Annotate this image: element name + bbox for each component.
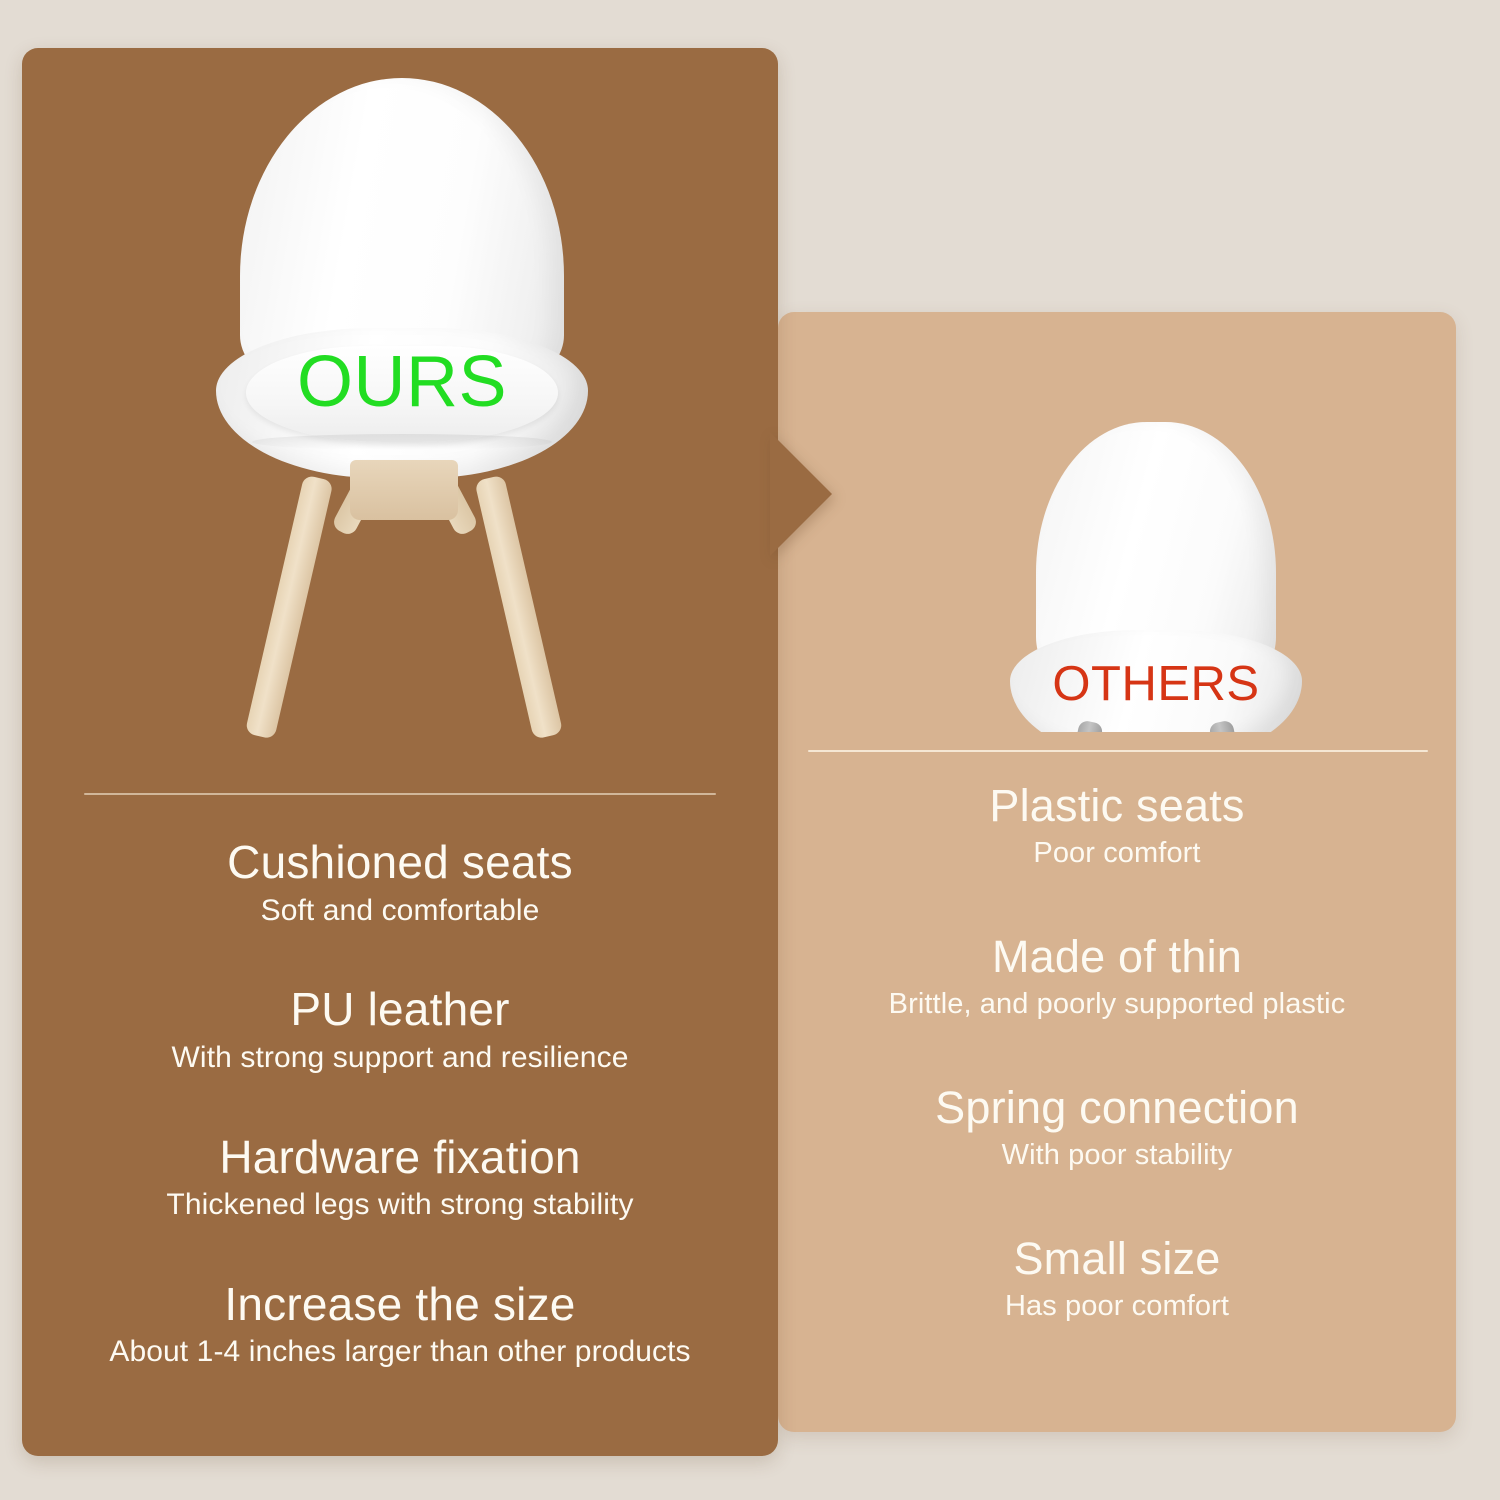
ours-feature-list: Cushioned seats Soft and comfortable PU … [22,838,778,1369]
feature-title: Plastic seats [796,782,1438,831]
feature-item: Hardware fixation Thickened legs with st… [44,1133,756,1222]
others-chair-label: OTHERS [1006,660,1306,709]
others-panel: OTHERS Plastic seats Poor comfort Made o… [778,312,1456,1432]
feature-title: Cushioned seats [44,838,756,888]
feature-item: Cushioned seats Soft and comfortable [44,838,756,927]
ours-chair-leg-right [474,475,563,740]
feature-title: PU leather [44,985,756,1035]
ours-panel: OURS Cushioned seats Soft and comfortabl… [22,48,778,1456]
feature-subtitle: Has poor comfort [796,1290,1438,1322]
feature-item: Increase the size About 1-4 inches large… [44,1280,756,1369]
ours-chair-label: OURS [212,346,592,418]
others-divider [808,750,1428,752]
others-chair-illustration: OTHERS [1006,422,1306,732]
ours-chair-leg-left [245,475,334,740]
ours-chair-photo: OURS [22,48,778,748]
feature-item: Made of thin Brittle, and poorly support… [796,933,1438,1020]
feature-item: Small size Has poor comfort [796,1235,1438,1322]
comparison-infographic: OURS Cushioned seats Soft and comfortabl… [0,0,1500,1500]
others-feature-list: Plastic seats Poor comfort Made of thin … [778,782,1456,1322]
comparison-arrow-icon [770,432,832,556]
feature-title: Made of thin [796,933,1438,982]
ours-chair-leg-hub [350,460,458,520]
feature-title: Small size [796,1235,1438,1284]
ours-divider [84,793,716,795]
feature-subtitle: About 1-4 inches larger than other produ… [44,1335,756,1369]
feature-subtitle: Thickened legs with strong stability [44,1188,756,1222]
feature-subtitle: Brittle, and poorly supported plastic [796,988,1438,1020]
feature-title: Hardware fixation [44,1133,756,1183]
feature-item: PU leather With strong support and resil… [44,985,756,1074]
ours-chair-seam [252,434,552,450]
feature-subtitle: With poor stability [796,1139,1438,1171]
ours-chair-illustration: OURS [212,78,592,738]
feature-subtitle: Soft and comfortable [44,894,756,928]
feature-title: Spring connection [796,1084,1438,1133]
others-backdrop-wall [778,48,1456,318]
feature-subtitle: Poor comfort [796,837,1438,869]
others-chair-photo: OTHERS [778,312,1456,732]
feature-subtitle: With strong support and resilience [44,1041,756,1075]
feature-title: Increase the size [44,1280,756,1330]
feature-item: Plastic seats Poor comfort [796,782,1438,869]
feature-item: Spring connection With poor stability [796,1084,1438,1171]
